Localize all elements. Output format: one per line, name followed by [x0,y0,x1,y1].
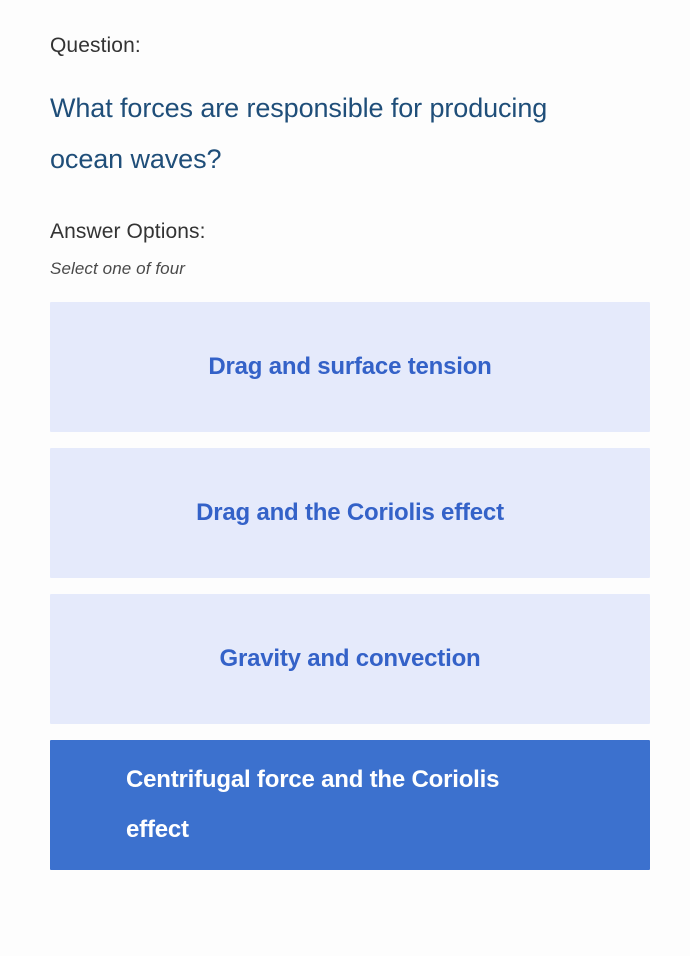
question-label: Question: [50,0,640,60]
question-text: What forces are responsible for producin… [50,60,570,185]
answer-option-label: Drag and surface tension [208,342,491,392]
answer-option-3[interactable]: Gravity and convection [50,594,650,724]
answer-option-2[interactable]: Drag and the Coriolis effect [50,448,650,578]
answer-option-4[interactable]: Centrifugal force and the Coriolis effec… [50,740,650,870]
answer-option-label: Drag and the Coriolis effect [196,488,504,538]
answer-option-label: Centrifugal force and the Coriolis effec… [126,755,526,856]
answer-options-list: Drag and surface tension Drag and the Co… [50,280,640,870]
answer-option-label: Gravity and convection [219,634,480,684]
answer-options-hint: Select one of four [50,246,640,280]
answer-option-1[interactable]: Drag and surface tension [50,302,650,432]
answer-options-label: Answer Options: [50,185,640,246]
question-page: Question: What forces are responsible fo… [0,0,690,956]
